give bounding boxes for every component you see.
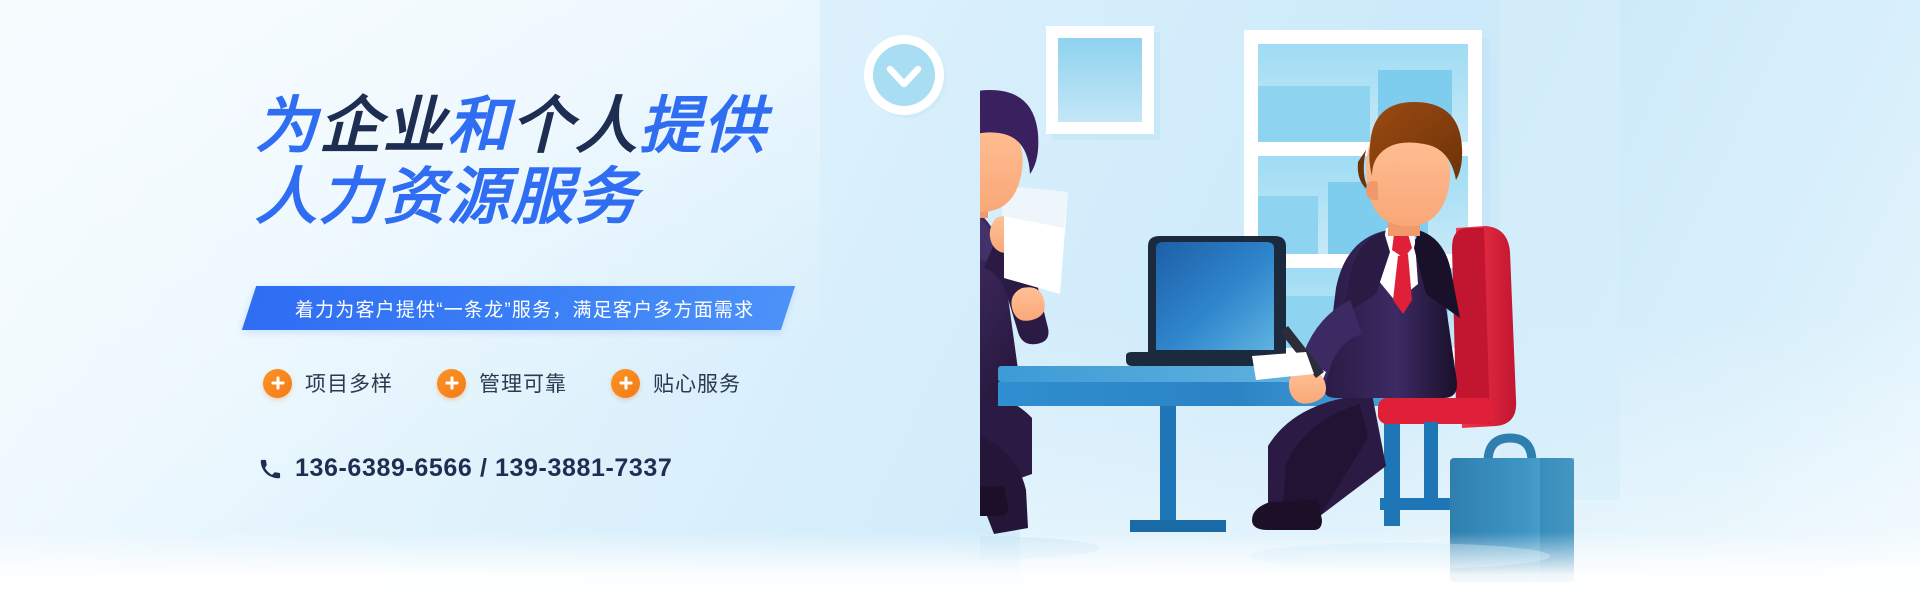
phone-icon [259,458,281,480]
feature-label-3: 贴心服务 [653,368,741,398]
copy-block: 为企业和个人提供 人力资源服务 着力为客户提供“一条龙”服务，满足客户多方面需求… [255,96,1015,229]
headline-seg-3: 和 [447,96,511,158]
headline-seg-6: 人力资源服务 [255,167,639,229]
hero-banner: 为企业和个人提供 人力资源服务 着力为客户提供“一条龙”服务，满足客户多方面需求… [0,0,1920,610]
headline-seg-1: 为 [255,96,319,158]
feature-list: 项目多样 管理可靠 贴心服务 [263,368,741,398]
subtitle-text: 着力为客户提供“一条龙”服务，满足客户多方面需求 [295,295,754,322]
contact-phone[interactable]: 136-6389-6566 / 139-3881-7337 [259,454,672,483]
headline-line-2: 人力资源服务 [255,167,1015,229]
feature-item-3[interactable]: 贴心服务 [611,368,741,398]
plus-icon [437,369,466,398]
laptop [1108,236,1286,366]
picture-frame [1046,26,1160,140]
phone-number: 136-6389-6566 / 139-3881-7337 [295,454,672,483]
feature-label-1: 项目多样 [305,368,393,398]
plus-icon [611,369,640,398]
headline-seg-2: 企业 [319,96,447,158]
floor-strip [0,532,1920,610]
feature-item-2[interactable]: 管理可靠 [437,368,567,398]
headline: 为企业和个人提供 人力资源服务 [255,96,1015,229]
headline-seg-4: 个人 [511,96,639,158]
feature-item-1[interactable]: 项目多样 [263,368,393,398]
plus-icon [263,369,292,398]
headline-line-1: 为企业和个人提供 [255,96,1015,158]
wall-panel [1500,0,1620,500]
subtitle-bar: 着力为客户提供“一条龙”服务，满足客户多方面需求 [242,286,796,330]
headline-seg-5: 提供 [639,96,767,158]
illustration-scene [980,0,1920,610]
feature-label-2: 管理可靠 [479,368,567,398]
